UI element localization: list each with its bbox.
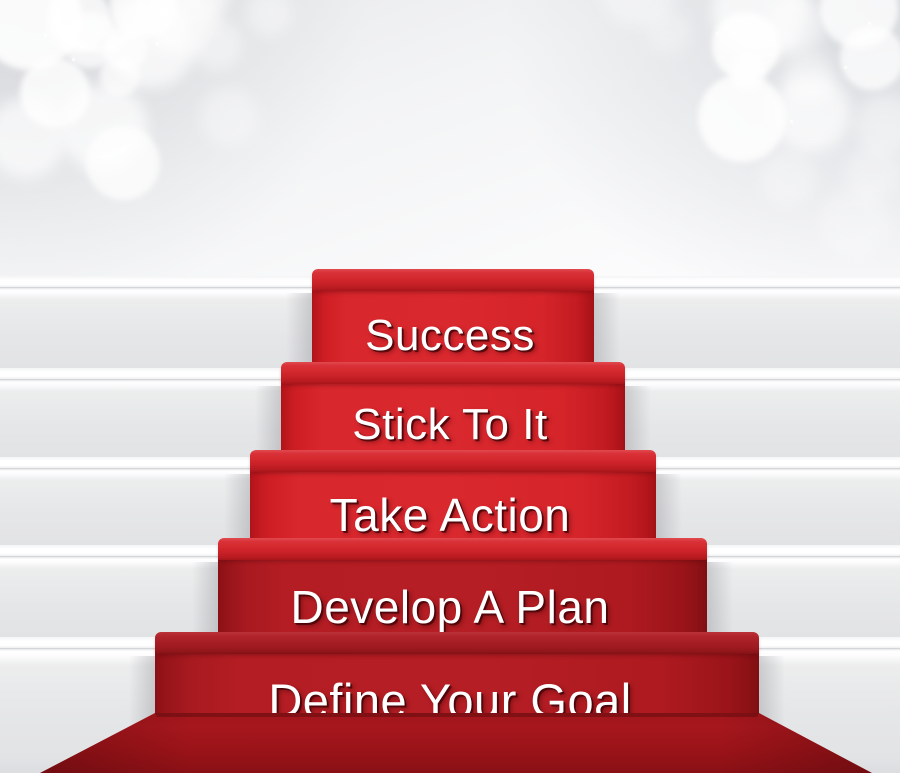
step-nosing-define-your-goal [155, 632, 759, 654]
step-nosing-take-action [250, 450, 656, 472]
step-nosing-stick-to-it [281, 362, 625, 384]
carpet-runner [0, 713, 900, 773]
success-steps-graphic: Success Stick To It Take Action Develop … [0, 0, 900, 773]
step-nosing-success [312, 269, 594, 291]
step-nosing-develop-a-plan [218, 538, 707, 560]
